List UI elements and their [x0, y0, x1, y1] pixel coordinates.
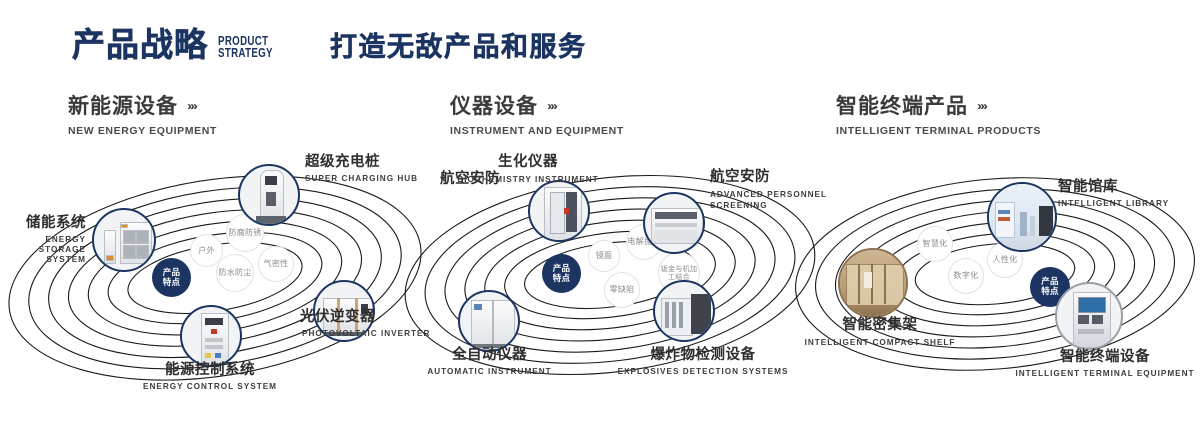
label-cn: 储能系统: [0, 216, 86, 232]
label-intelligent-library: 智能馆库 INTELLIGENT LIBRARY: [1058, 180, 1193, 209]
core-bubble-line2: 特点: [553, 274, 571, 284]
charging-hub-photo: [240, 166, 298, 224]
brand-header: 产品战略 PRODUCT STRATEGY: [72, 28, 288, 61]
label-cn: 生化仪器: [448, 155, 608, 171]
label-cn: 能源控制系统: [125, 363, 295, 379]
brand-title-en: PRODUCT STRATEGY: [218, 35, 273, 59]
brand-title-en-line2: STRATEGY: [218, 47, 273, 59]
node-automatic-instrument[interactable]: [458, 290, 520, 352]
chevron-right-icon: ›››: [187, 100, 196, 114]
section-title-intelligent-terminal: 智能终端产品››› INTELLIGENT TERMINAL PRODUCTS: [836, 96, 1041, 137]
core-bubble-line1: 产品: [163, 268, 181, 278]
chevron-right-icon: ›››: [547, 100, 556, 114]
headline: 打造无敌产品和服务: [330, 34, 587, 61]
label-energy-control-system: 能源控制系统 ENERGY CONTROL SYSTEM: [125, 363, 295, 392]
brand-title-cn: 产品战略: [72, 28, 208, 61]
core-bubble-line1: 产品: [553, 264, 571, 274]
biochemistry-instrument-photo: [530, 182, 588, 240]
section-title-en: INTELLIGENT TERMINAL PRODUCTS: [836, 125, 1041, 137]
product-strategy-infographic: 产品战略 PRODUCT STRATEGY 打造无敌产品和服务 新能源设备›››…: [0, 0, 1200, 422]
label-en: INTELLIGENT COMPACT SHELF: [790, 337, 970, 348]
chevron-right-icon: ›››: [977, 100, 986, 114]
label-cn: 全自动仪器: [402, 348, 577, 364]
label-en: ENERGY STORAGE SYSTEM: [0, 235, 86, 265]
section-title-instrument: 仪器设备››› INSTRUMENT AND EQUIPMENT: [450, 96, 624, 137]
section-title-en: INSTRUMENT AND EQUIPMENT: [450, 125, 624, 137]
node-intelligent-terminal-equipment[interactable]: [1055, 282, 1123, 350]
label-en: INTELLIGENT TERMINAL EQUIPMENT: [1010, 369, 1200, 379]
label-intelligent-compact-shelf: 智能密集架 INTELLIGENT COMPACT SHELF: [790, 318, 970, 348]
label-en: EXPLOSIVES DETECTION SYSTEMS: [608, 367, 798, 377]
node-biochemistry-instrument[interactable]: [528, 180, 590, 242]
explosives-detection-photo: [655, 282, 713, 340]
section-title-cn: 智能终端产品: [836, 96, 968, 117]
feature-bubble-airtight: 气密性: [258, 246, 294, 282]
label-en: INTELLIGENT LIBRARY: [1058, 199, 1193, 209]
node-explosives-detection-systems[interactable]: [653, 280, 715, 342]
feature-bubble-smart: 智慧化: [917, 226, 953, 262]
label-cn: 智能密集架: [790, 318, 970, 334]
automatic-instrument-photo: [460, 292, 518, 350]
node-advanced-personnel-screening[interactable]: [643, 192, 705, 254]
cluster-instrument: 产品 特点 镜面 电解抛光 钣金与机加工结合 零缺陷 航空安防 生化仪器 BIO…: [400, 150, 820, 390]
node-energy-control-system[interactable]: [180, 305, 242, 367]
core-bubble-line2: 特点: [163, 278, 181, 288]
feature-bubble-zero-defect: 零缺陷: [604, 272, 640, 308]
cluster-intelligent-terminal: 产品 特点 智慧化 人性化 数字化 智能馆库 INTELLIGENT LIBRA…: [790, 150, 1200, 390]
intelligent-library-photo: [989, 184, 1055, 250]
label-en: BIOCHEMISTRY INSTRUMENT: [448, 174, 608, 185]
node-intelligent-library[interactable]: [987, 182, 1057, 252]
label-cn: 智能终端设备: [1010, 350, 1200, 366]
cluster-new-energy: 产品 特点 户外 防腐防锈 气密性 防水防尘 储能系统 ENERGY STORA…: [0, 150, 430, 390]
label-en: ENERGY CONTROL SYSTEM: [125, 382, 295, 392]
core-bubble-product-features: 产品 特点: [152, 258, 191, 297]
feature-bubble-digital: 数字化: [948, 258, 984, 294]
feature-bubble-waterproof: 防水防尘: [216, 254, 254, 292]
terminal-equipment-photo: [1057, 284, 1121, 348]
label-en: AUTOMATIC INSTRUMENT: [402, 367, 577, 377]
section-title-cn: 新能源设备: [68, 96, 178, 117]
label-intelligent-terminal-equipment: 智能终端设备 INTELLIGENT TERMINAL EQUIPMENT: [1010, 350, 1200, 379]
section-title-cn: 仪器设备: [450, 96, 538, 117]
label-biochemistry-instrument: 生化仪器 BIOCHEMISTRY INSTRUMENT: [448, 155, 608, 185]
feature-bubble-mirror-finish: 镜面: [588, 240, 620, 272]
node-intelligent-compact-shelf[interactable]: [838, 248, 908, 318]
energy-control-photo: [182, 307, 240, 365]
label-energy-storage-system: 储能系统 ENERGY STORAGE SYSTEM: [0, 216, 86, 265]
label-cn: 智能馆库: [1058, 180, 1193, 196]
personnel-screening-photo: [645, 194, 703, 252]
node-energy-storage-system[interactable]: [92, 208, 156, 272]
label-explosives-detection-systems: 爆炸物检测设备 EXPLOSIVES DETECTION SYSTEMS: [608, 348, 798, 377]
section-title-en: NEW ENERGY EQUIPMENT: [68, 125, 217, 137]
node-super-charging-hub[interactable]: [238, 164, 300, 226]
compact-shelf-photo: [840, 250, 906, 316]
energy-storage-photo: [94, 210, 154, 270]
label-automatic-instrument: 全自动仪器 AUTOMATIC INSTRUMENT: [402, 348, 577, 377]
core-bubble-product-features: 产品 特点: [542, 254, 581, 293]
section-title-new-energy: 新能源设备››› NEW ENERGY EQUIPMENT: [68, 96, 217, 137]
label-cn: 爆炸物检测设备: [608, 348, 798, 364]
